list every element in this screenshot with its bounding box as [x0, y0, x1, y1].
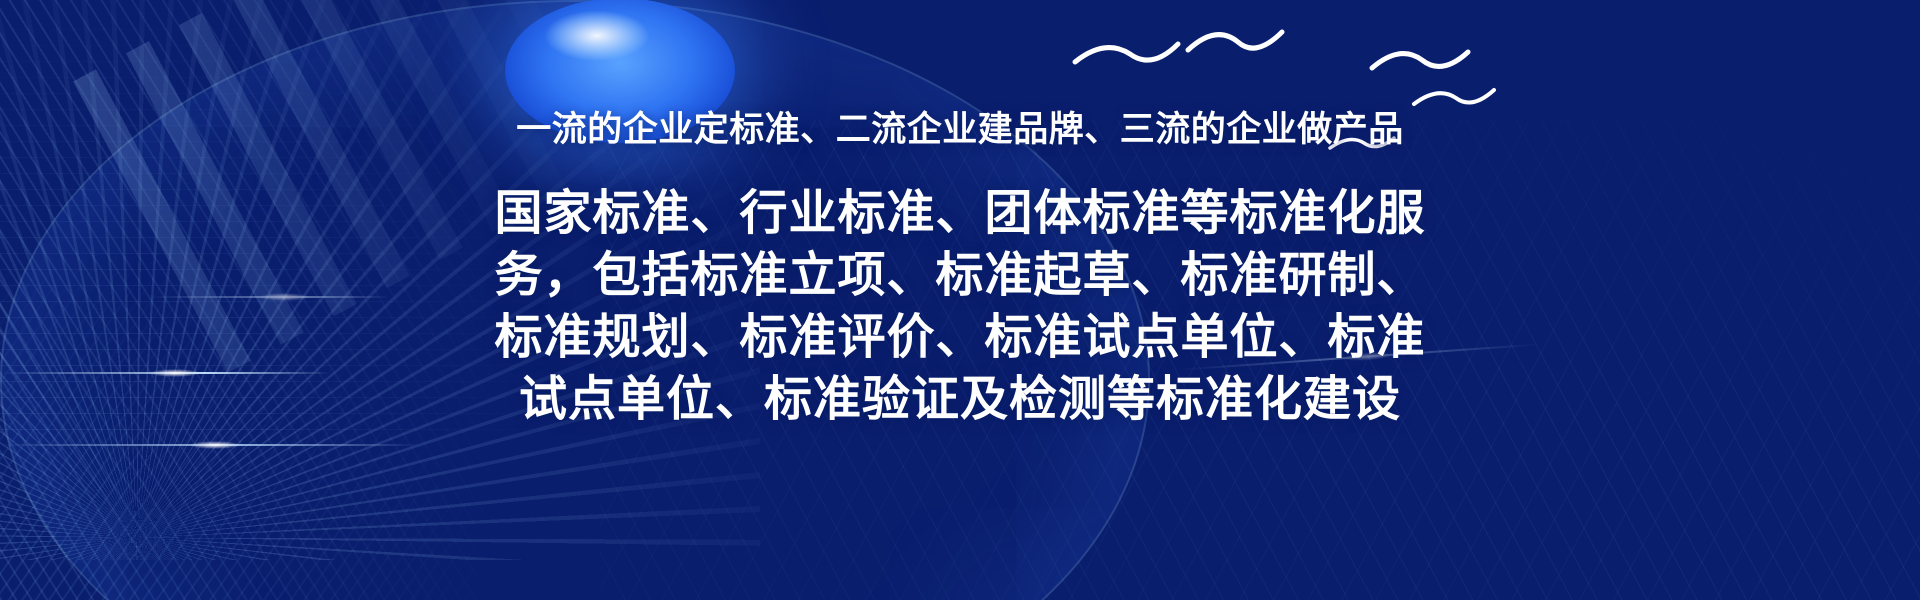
light-streak — [0, 444, 420, 446]
description-line: 务，包括标准立项、标准起草、标准研制、 — [440, 245, 1480, 307]
banner-text-block: 一流的企业定标准、二流企业建品牌、三流的企业做产品 国家标准、行业标准、团体标准… — [0, 0, 1920, 431]
description-line: 试点单位、标准验证及检测等标准化建设 — [440, 369, 1480, 431]
description-line: 标准规划、标准评价、标准试点单位、标准 — [440, 307, 1480, 369]
hero-banner: 一流的企业定标准、二流企业建品牌、三流的企业做产品 国家标准、行业标准、团体标准… — [0, 0, 1920, 600]
description-line: 国家标准、行业标准、团体标准等标准化服 — [440, 183, 1480, 245]
banner-headline: 一流的企业定标准、二流企业建品牌、三流的企业做产品 — [516, 112, 1404, 147]
banner-description: 国家标准、行业标准、团体标准等标准化服 务，包括标准立项、标准起草、标准研制、 … — [440, 183, 1480, 431]
